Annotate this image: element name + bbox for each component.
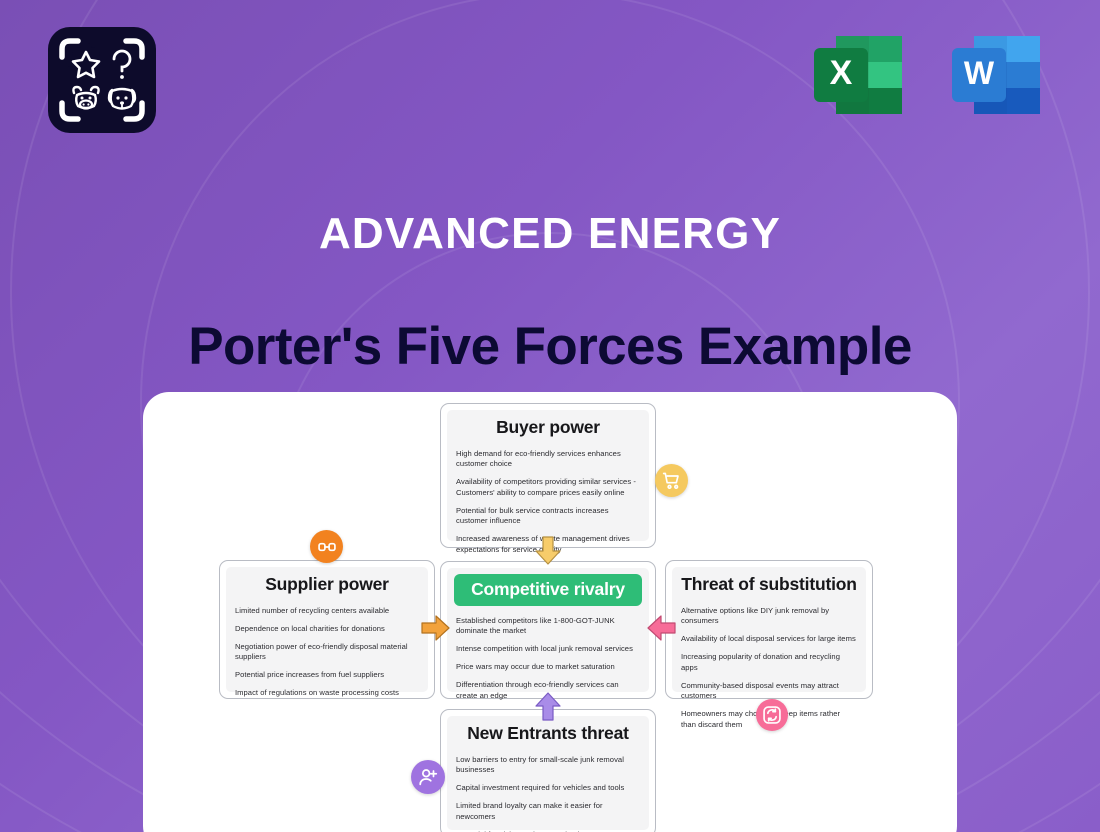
refresh-sync-icon[interactable]: [756, 699, 788, 731]
new-entrants-threat-list: Low barriers to entry for small-scale ju…: [456, 755, 640, 832]
force-box-new-entrants-threat[interactable]: New Entrants threat Low barriers to entr…: [440, 709, 656, 832]
office-app-icons: X W: [809, 28, 1045, 122]
add-user-icon[interactable]: [411, 760, 445, 794]
list-item: Potential price increases from fuel supp…: [235, 670, 419, 680]
list-item: Price wars may occur due to market satur…: [456, 662, 640, 672]
list-item: Alternative options like DIY junk remova…: [681, 606, 857, 627]
excel-icon[interactable]: X: [809, 28, 907, 122]
list-item: Capital investment required for vehicles…: [456, 783, 640, 793]
arrow-left-threat-to-rivalry: [646, 614, 676, 647]
brand-title: ADVANCED ENERGY: [0, 209, 1100, 259]
list-item: Limited brand loyalty can make it easier…: [456, 801, 640, 822]
force-box-supplier-power[interactable]: Supplier power Limited number of recycli…: [219, 560, 435, 699]
dog-icon: [109, 89, 135, 109]
list-item: Low barriers to entry for small-scale ju…: [456, 755, 640, 776]
list-item: Established competitors like 1-800-GOT-J…: [456, 616, 640, 637]
arrow-down-buyer-to-rivalry: [534, 536, 562, 571]
list-item: Negotiation power of eco-friendly dispos…: [235, 642, 419, 663]
chain-link-icon[interactable]: [310, 530, 343, 563]
slide-canvas: X W ADVANCED ENERGY Porter's Five Forces…: [0, 0, 1100, 832]
list-item: Availability of local disposal services …: [681, 634, 857, 644]
list-item: High demand for eco-friendly services en…: [456, 449, 640, 470]
list-item: Impact of regulations on waste processin…: [235, 688, 419, 698]
buyer-power-title: Buyer power: [456, 417, 640, 438]
svg-text:X: X: [830, 54, 853, 92]
list-item: Dependence on local charities for donati…: [235, 624, 419, 634]
list-item: Availability of competitors providing si…: [456, 477, 640, 498]
question-mark-icon: [114, 51, 130, 79]
supplier-power-list: Limited number of recycling centers avai…: [235, 606, 419, 699]
arrow-right-supplier-to-rivalry: [421, 614, 451, 647]
word-icon[interactable]: W: [947, 28, 1045, 122]
threat-of-substitution-title: Threat of substitution: [681, 574, 857, 595]
diagram-card: Buyer power High demand for eco-friendly…: [143, 392, 957, 832]
qr-pets-logo[interactable]: [48, 27, 156, 133]
cow-icon: [73, 87, 98, 109]
shopping-cart-icon[interactable]: [655, 464, 688, 497]
page-title: Porter's Five Forces Example: [0, 316, 1100, 377]
arrow-up-entrants-to-rivalry: [534, 692, 562, 727]
supplier-power-title: Supplier power: [235, 574, 419, 595]
list-item: Limited number of recycling centers avai…: [235, 606, 419, 616]
force-box-threat-of-substitution[interactable]: Threat of substitution Alternative optio…: [665, 560, 873, 699]
force-box-competitive-rivalry[interactable]: Competitive rivalry Established competit…: [440, 561, 656, 699]
force-box-buyer-power[interactable]: Buyer power High demand for eco-friendly…: [440, 403, 656, 548]
competitive-rivalry-title: Competitive rivalry: [454, 574, 642, 606]
svg-text:W: W: [964, 55, 995, 91]
list-item: Intense competition with local junk remo…: [456, 644, 640, 654]
list-item: Potential for bulk service contracts inc…: [456, 506, 640, 527]
list-item: Increasing popularity of donation and re…: [681, 652, 857, 673]
